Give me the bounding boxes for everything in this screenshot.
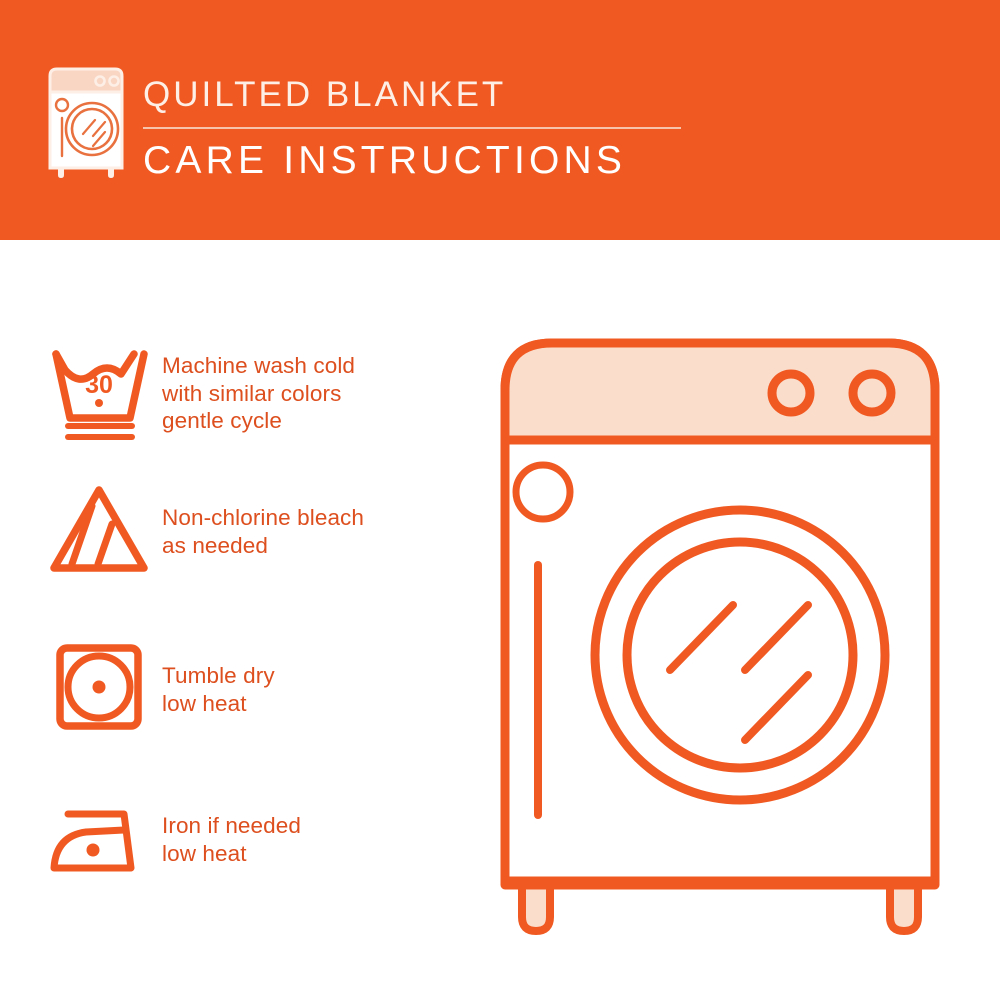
care-text-bleach: Non-chlorine bleach as needed — [162, 480, 364, 559]
wash-temperature-value: 30 — [85, 371, 113, 399]
title-divider — [143, 127, 681, 129]
non-chlorine-bleach-triangle-icon — [46, 480, 162, 576]
care-text-iron: Iron if needed low heat — [162, 792, 301, 867]
care-line: with similar colors — [162, 380, 355, 408]
care-line: low heat — [162, 840, 301, 868]
header-title-group: QUILTED BLANKET CARE INSTRUCTIONS — [143, 72, 703, 185]
care-line: low heat — [162, 690, 275, 718]
care-row-tumble-dry: Tumble dry low heat — [46, 638, 275, 734]
tumble-dry-heat-dot — [93, 681, 106, 694]
care-text-tumble-dry: Tumble dry low heat — [162, 638, 275, 717]
care-row-bleach: Non-chlorine bleach as needed — [46, 480, 364, 576]
washing-machine-illustration — [480, 325, 960, 940]
care-line: Non-chlorine bleach — [162, 504, 364, 532]
washing-machine-logo-icon — [44, 66, 128, 178]
care-line: Tumble dry — [162, 662, 275, 690]
care-row-machine-wash: 30 Machine wash cold with similar colors… — [46, 346, 355, 442]
care-instructions-page: QUILTED BLANKET CARE INSTRUCTIONS 30 Mac… — [0, 0, 1000, 1000]
care-line: as needed — [162, 532, 364, 560]
wash-heat-dot — [95, 399, 103, 407]
care-text-machine-wash: Machine wash cold with similar colors ge… — [162, 346, 355, 435]
iron-heat-dot — [87, 844, 100, 857]
care-line: gentle cycle — [162, 407, 355, 435]
care-line: Iron if needed — [162, 812, 301, 840]
page-title-primary: QUILTED BLANKET — [143, 72, 703, 118]
header-banner: QUILTED BLANKET CARE INSTRUCTIONS — [0, 0, 1000, 240]
machine-control-panel — [505, 343, 935, 440]
machine-wash-basin-icon: 30 — [46, 346, 162, 442]
page-title-secondary: CARE INSTRUCTIONS — [143, 137, 703, 185]
care-line: Machine wash cold — [162, 352, 355, 380]
tumble-dry-square-icon — [46, 638, 162, 734]
iron-icon — [46, 792, 162, 888]
care-row-iron: Iron if needed low heat — [46, 792, 301, 888]
